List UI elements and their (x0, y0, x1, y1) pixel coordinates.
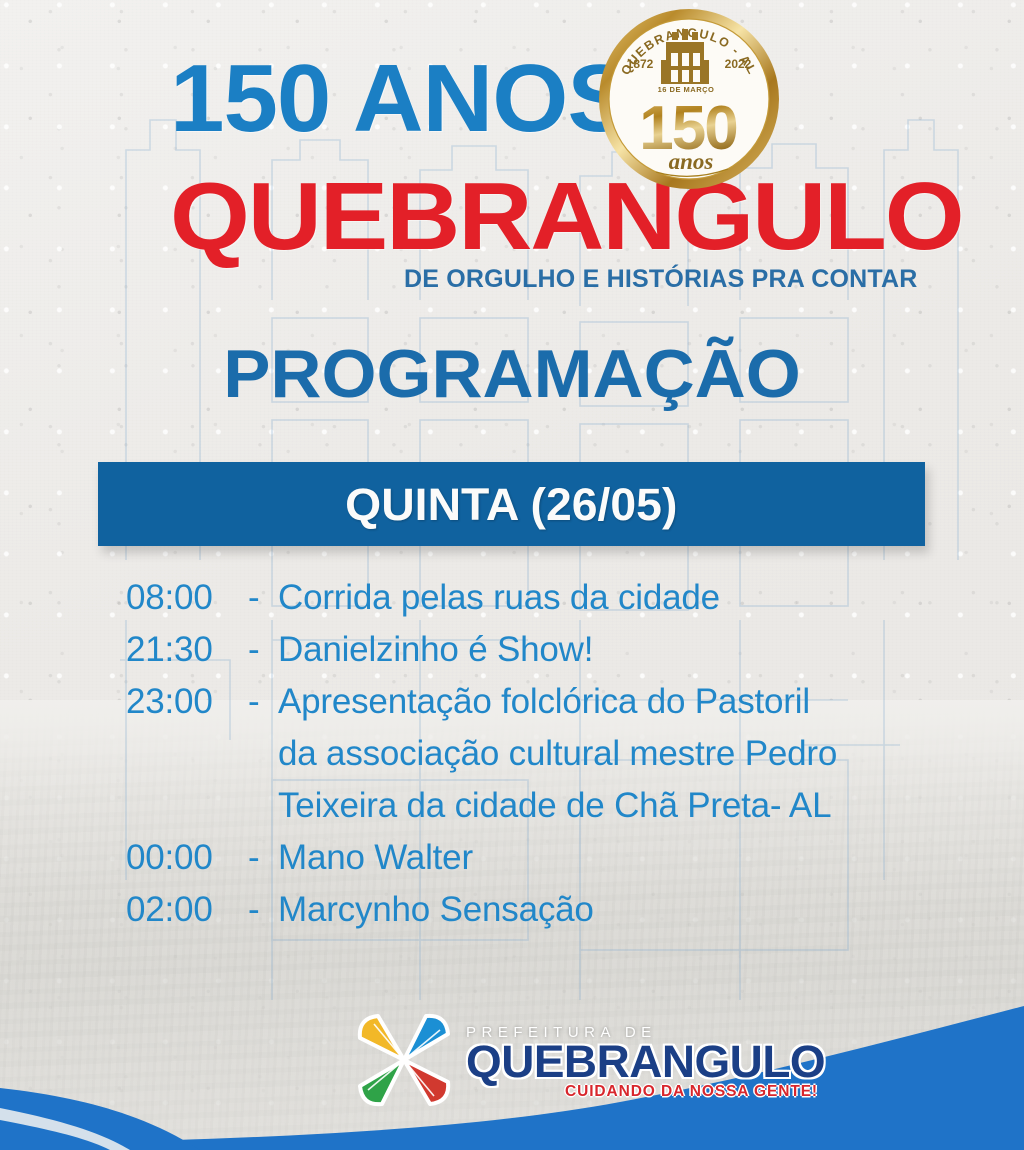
schedule-time: 00:00 (126, 832, 248, 884)
schedule-description: Corrida pelas ruas da cidade (278, 572, 956, 624)
schedule-description: Danielzinho é Show! (278, 624, 956, 676)
schedule-row: 21:30-Danielzinho é Show! (126, 624, 956, 676)
seal-medal-icon: QUEBRANGULO - AL 1872 2022 (596, 6, 782, 192)
schedule-time: 23:00 (126, 676, 248, 728)
schedule-dash: - (248, 572, 278, 624)
svg-text:16 DE MARÇO: 16 DE MARÇO (658, 85, 715, 94)
schedule-row: 23:00-Apresentação folclórica do Pastori… (126, 676, 956, 728)
schedule-description-continuation: Teixeira da cidade de Chã Preta- AL (126, 780, 956, 832)
title-quebrangulo: QUEBRANGULO (170, 170, 963, 264)
schedule-description: Apresentação folclórica do Pastoril (278, 676, 956, 728)
schedule-list: 08:00-Corrida pelas ruas da cidade21:30-… (126, 572, 956, 936)
poster-root: 150 ANOS QUEBRANGULO DE ORGULHO E HISTÓR… (0, 0, 1024, 1150)
schedule-row: 02:00-Marcynho Sensação (126, 884, 956, 936)
schedule-dash: - (248, 676, 278, 728)
schedule-dash: - (248, 832, 278, 884)
schedule-description-continuation: da associação cultural mestre Pedro (126, 728, 956, 780)
schedule-row: 00:00-Mano Walter (126, 832, 956, 884)
schedule-time: 21:30 (126, 624, 248, 676)
svg-text:2022: 2022 (725, 57, 752, 71)
schedule-description: Marcynho Sensação (278, 884, 956, 936)
pinwheel-icon (352, 1008, 456, 1112)
schedule-row: 08:00-Corrida pelas ruas da cidade (126, 572, 956, 624)
schedule-dash: - (248, 624, 278, 676)
schedule-time: 02:00 (126, 884, 248, 936)
day-banner: QUINTA (26/05) (98, 462, 925, 546)
schedule-time: 08:00 (126, 572, 248, 624)
prefecture-logo: PREFEITURA DE QUEBRANGULO CUIDANDO DA NO… (352, 1005, 702, 1115)
logo-text-block: PREFEITURA DE QUEBRANGULO CUIDANDO DA NO… (466, 1021, 818, 1100)
schedule-dash: - (248, 884, 278, 936)
schedule-description: Mano Walter (278, 832, 956, 884)
day-banner-label: QUINTA (26/05) (345, 482, 677, 527)
header-subtitle: DE ORGULHO E HISTÓRIAS PRA CONTAR (404, 267, 918, 292)
svg-text:1872: 1872 (627, 57, 654, 71)
title-150-anos: 150 ANOS (170, 52, 632, 146)
anniversary-seal: QUEBRANGULO - AL 1872 2022 (596, 6, 782, 192)
page-title-programacao: PROGRAMAÇÃO (0, 340, 1024, 408)
logo-city-name: QUEBRANGULO (466, 1041, 825, 1082)
svg-text:anos: anos (669, 149, 714, 174)
